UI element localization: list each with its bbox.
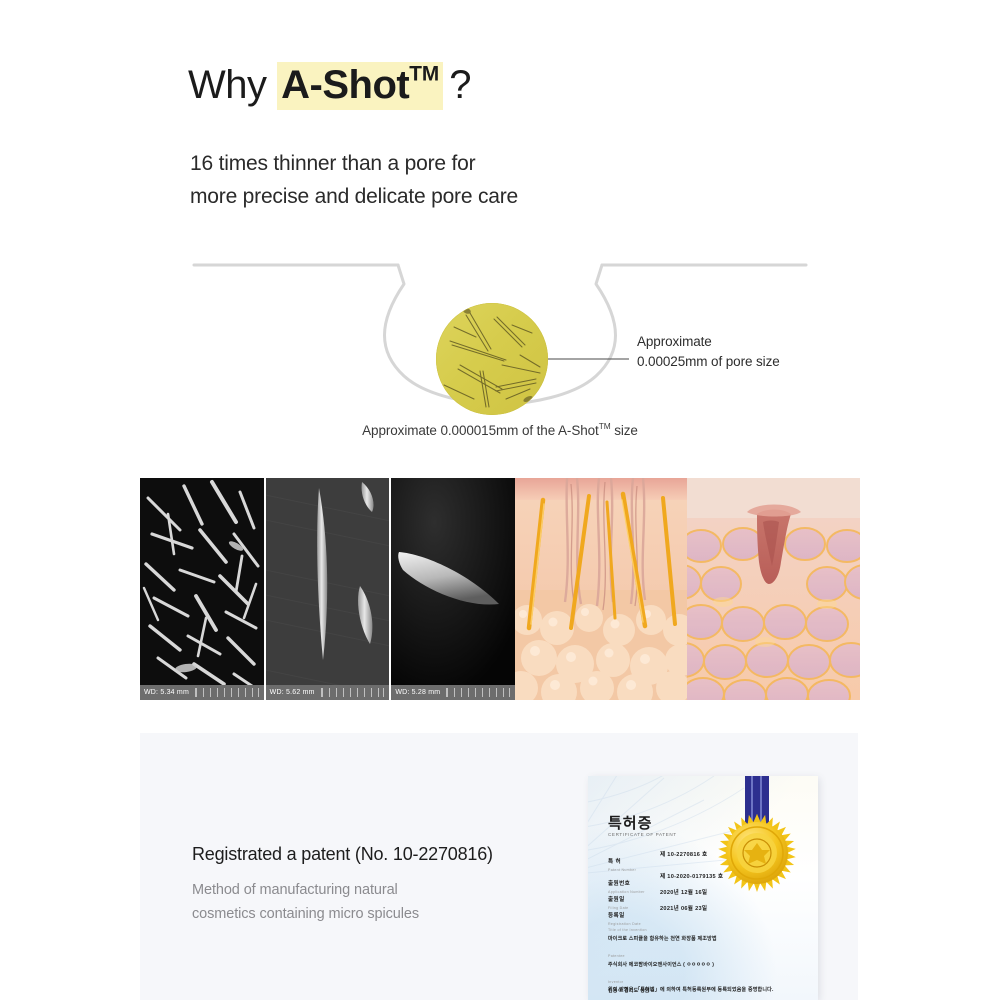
certificate-invention-title-body: 마이크로 스피큘을 함유하는 천연 화장품 제조방법 xyxy=(608,935,717,942)
skin-cells-pore-illustration xyxy=(687,478,860,700)
certificate-patent-number-value: 제 10-2270816 호 xyxy=(660,850,707,858)
patent-section: Registrated a patent (No. 10-2270816) Me… xyxy=(140,733,858,1000)
sem-spicule-field-image xyxy=(140,478,264,700)
certificate-registration-date-row: 등록일 Registration Date xyxy=(608,904,641,926)
certificate-filing-date-value: 2020년 12월 16일 xyxy=(660,888,707,896)
caption-prefix: Approximate 0.000015mm of the A-Shot xyxy=(362,423,599,438)
patent-registration-title: Registrated a patent (No. 10-2270816) xyxy=(192,844,493,865)
certificate-registration-date-label-en: Registration Date xyxy=(608,922,641,926)
page-subtitle: 16 times thinner than a pore for more pr… xyxy=(190,148,518,213)
pore-size-callout: Approximate 0.00025mm of pore size xyxy=(637,332,780,373)
sem-scale-bar: WD: 5.28 mm xyxy=(391,685,515,700)
certificate-application-number-value: 제 10-2020-0179135 호 xyxy=(660,872,723,880)
certificate-patent-number-label: 특 허 xyxy=(608,859,621,865)
sem-ruler-ticks xyxy=(446,688,510,697)
sem-ruler-ticks xyxy=(321,688,385,697)
microscopy-image-strip: WD: 5.34 mm xyxy=(140,478,860,700)
sem-working-distance-label: WD: 5.62 mm xyxy=(270,689,315,696)
patent-certificate-image: 특허증 CERTIFICATE OF PATENT 특 허 Patent Num… xyxy=(588,776,818,1000)
panel-sem-single-spicule: WD: 5.62 mm xyxy=(266,478,390,700)
certificate-gold-seal-icon xyxy=(718,814,796,892)
panel-sem-spicule-field: WD: 5.34 mm xyxy=(140,478,264,700)
certificate-patent-number-row: 특 허 Patent Number xyxy=(608,850,636,872)
certificate-patentee-body: 주식회사 에코팜바이오앤사이언스 ( ㅇㅇㅇㅇㅇ ) xyxy=(608,961,714,968)
sem-ruler-ticks xyxy=(195,688,259,697)
pore-penetration-illustration xyxy=(515,478,688,700)
certificate-invention-title-block: Title of the Invention 마이크로 스피큘을 함유하는 천연… xyxy=(608,928,717,942)
certificate-inventor-heading: Inventor xyxy=(608,980,654,984)
certificate-registration-date-value: 2021년 06월 23일 xyxy=(660,904,707,912)
a-shot-size-caption: Approximate 0.000015mm of the A-ShotTM s… xyxy=(140,421,860,438)
sem-working-distance-label: WD: 5.34 mm xyxy=(144,689,189,696)
headline-question-mark: ? xyxy=(449,63,471,107)
patent-description: Method of manufacturing natural cosmetic… xyxy=(192,879,419,927)
certificate-registration-date-label: 등록일 xyxy=(608,913,625,919)
certificate-patentee-heading: Patentee xyxy=(608,954,714,958)
spicule-magnification-circle xyxy=(436,303,548,415)
certificate-korean-title: 특허증 xyxy=(608,812,652,833)
sem-working-distance-label: WD: 5.28 mm xyxy=(395,689,440,696)
caption-trademark-symbol: TM xyxy=(599,421,611,431)
certificate-english-title: CERTIFICATE OF PATENT xyxy=(608,832,677,837)
certificate-application-number-label: 출원번호 xyxy=(608,881,630,887)
panel-sem-spicule-tip: WD: 5.28 mm xyxy=(391,478,515,700)
certificate-footer-text: 위의 발명은 「특허법」에 의하여 특허등록원부에 등록되었음을 증명합니다. xyxy=(608,986,774,993)
certificate-invention-title-heading: Title of the Invention xyxy=(608,928,717,932)
headline-brand: A-Shot xyxy=(281,63,409,107)
certificate-patentee-block: Patentee 주식회사 에코팜바이오앤사이언스 ( ㅇㅇㅇㅇㅇ ) xyxy=(608,954,714,968)
caption-suffix: size xyxy=(611,423,638,438)
certificate-filing-date-label: 출원일 xyxy=(608,897,625,903)
panel-pore-penetration-illustration xyxy=(515,478,688,700)
sem-scale-bar: WD: 5.34 mm xyxy=(140,685,264,700)
panel-skin-cells-illustration xyxy=(687,478,860,700)
pore-diagram: Approximate 0.00025mm of pore size Appro… xyxy=(140,248,860,453)
sem-single-spicule-image xyxy=(266,478,390,700)
headline-highlight: A-ShotTM xyxy=(277,62,443,110)
trademark-symbol: TM xyxy=(409,62,439,85)
sem-spicule-tip-image xyxy=(391,478,515,700)
sem-scale-bar: WD: 5.62 mm xyxy=(266,685,390,700)
page-title: Why A-ShotTM? xyxy=(188,63,471,107)
headline-prefix: Why xyxy=(188,63,277,107)
